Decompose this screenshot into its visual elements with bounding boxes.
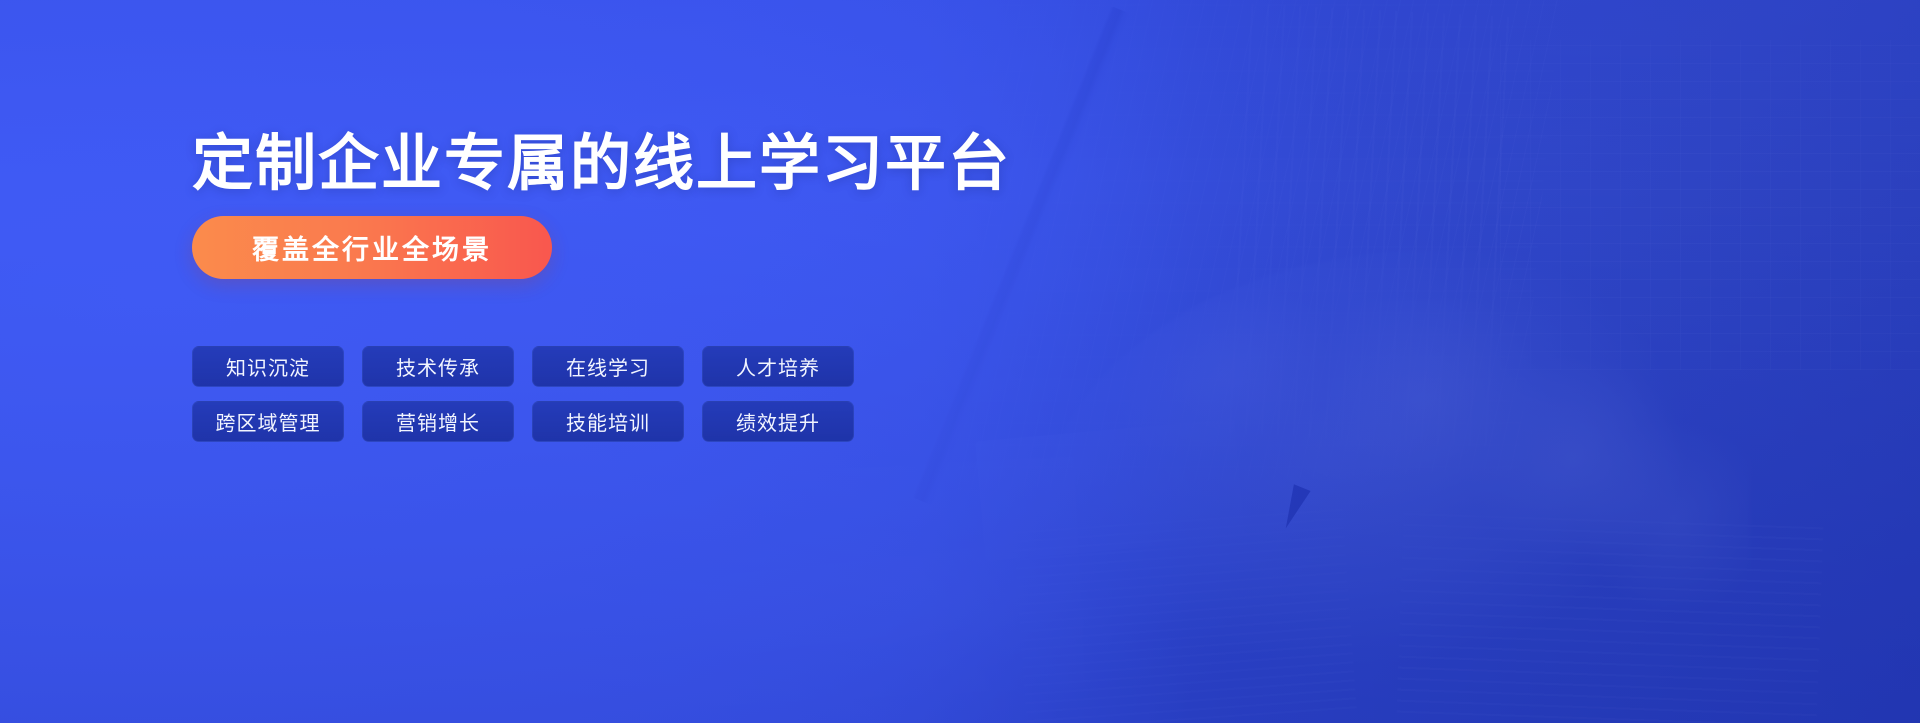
tag-cross-region-management[interactable]: 跨区域管理 bbox=[192, 401, 344, 442]
tag-technology-inheritance[interactable]: 技术传承 bbox=[362, 346, 514, 387]
banner-content: 定制企业专属的线上学习平台 覆盖全行业全场景 知识沉淀 技术传承 在线学习 人才… bbox=[192, 0, 1092, 723]
hero-banner: 定制企业专属的线上学习平台 覆盖全行业全场景 知识沉淀 技术传承 在线学习 人才… bbox=[0, 0, 1920, 723]
coverage-cta-button[interactable]: 覆盖全行业全场景 bbox=[192, 216, 552, 279]
tag-talent-development[interactable]: 人才培养 bbox=[702, 346, 854, 387]
tag-skills-training[interactable]: 技能培训 bbox=[532, 401, 684, 442]
page-title: 定制企业专属的线上学习平台 bbox=[192, 129, 1011, 197]
tag-knowledge-precipitation[interactable]: 知识沉淀 bbox=[192, 346, 344, 387]
tag-online-learning[interactable]: 在线学习 bbox=[532, 346, 684, 387]
tag-marketing-growth[interactable]: 营销增长 bbox=[362, 401, 514, 442]
tag-list: 知识沉淀 技术传承 在线学习 人才培养 跨区域管理 营销增长 技能培训 绩效提升 bbox=[192, 346, 932, 442]
tag-performance-improvement[interactable]: 绩效提升 bbox=[702, 401, 854, 442]
